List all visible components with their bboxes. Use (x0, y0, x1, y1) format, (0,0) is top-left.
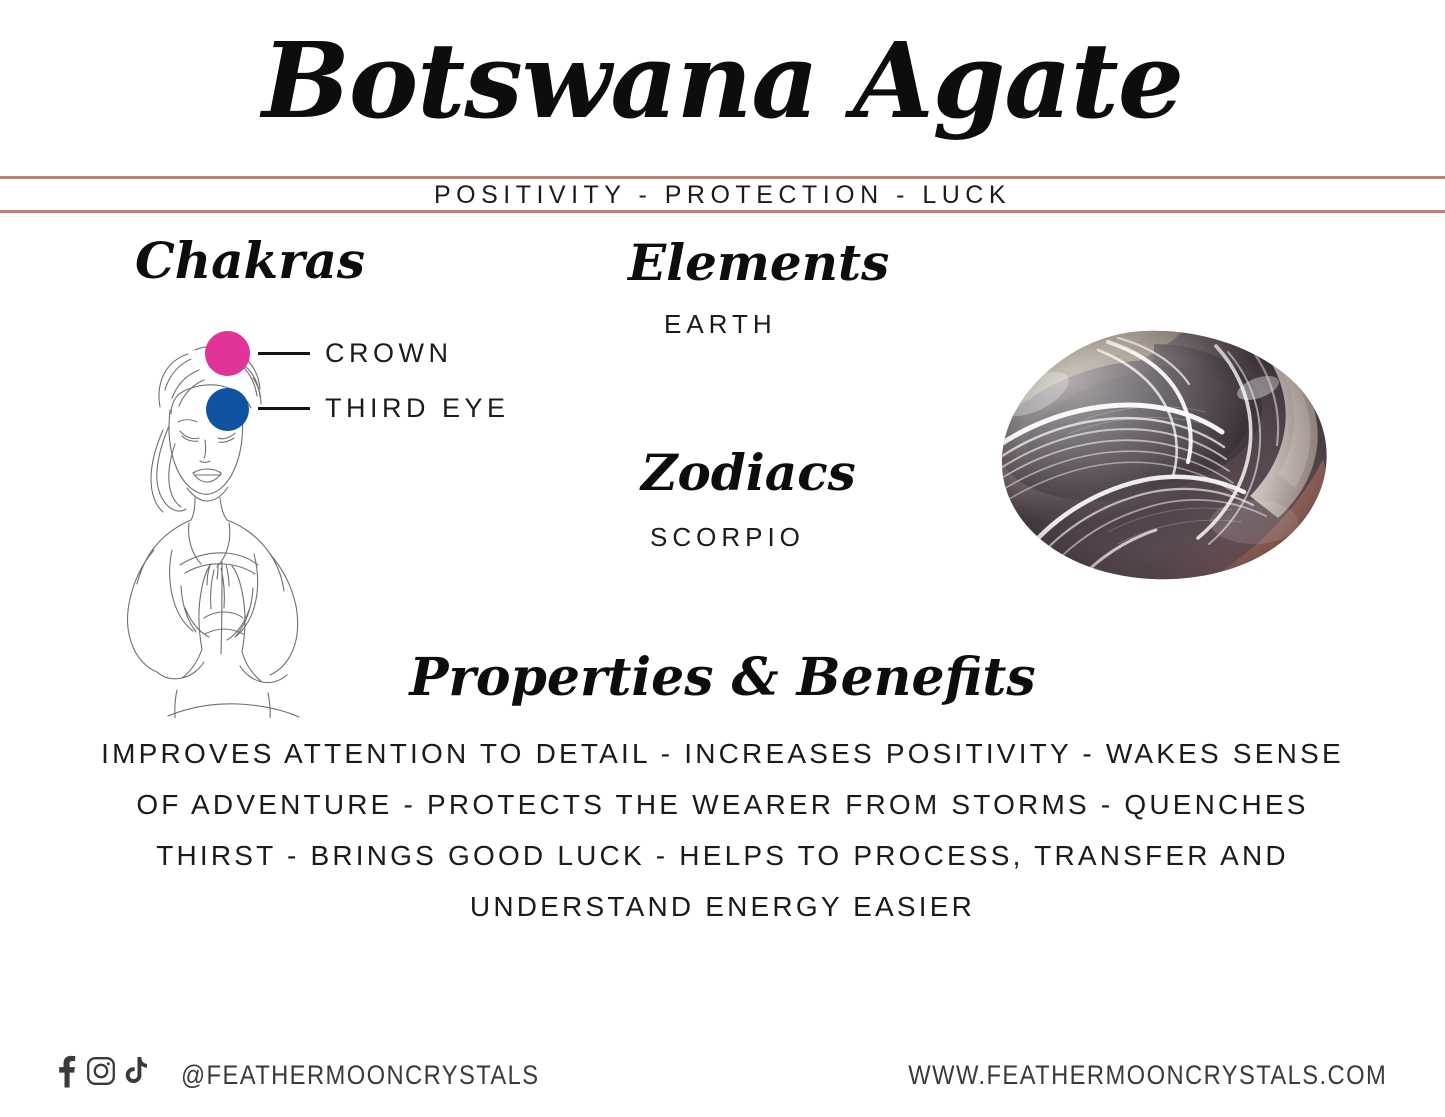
crown-chakra-dot (205, 331, 250, 376)
properties-body-text: IMPROVES ATTENTION TO DETAIL - INCREASES… (55, 728, 1390, 932)
chakra-label-crown: CROWN (325, 338, 452, 369)
zodiacs-value: SCORPIO (650, 522, 805, 553)
chakra-label-third-eye: THIRD EYE (325, 393, 510, 424)
properties-line: THIRST - BRINGS GOOD LUCK - HELPS TO PRO… (55, 830, 1390, 881)
third-eye-leader-line (258, 407, 310, 410)
elements-value: EARTH (664, 309, 777, 340)
crown-leader-line (258, 352, 310, 355)
divider-line-bottom (0, 210, 1445, 213)
properties-line: OF ADVENTURE - PROTECTS THE WEARER FROM … (55, 779, 1390, 830)
third-eye-chakra-dot (206, 388, 249, 431)
page-title: Botswana Agate (0, 18, 1445, 145)
instagram-icon[interactable] (86, 1056, 116, 1086)
properties-line: IMPROVES ATTENTION TO DETAIL - INCREASES… (55, 728, 1390, 779)
social-handle[interactable]: @FEATHERMOONCRYSTALS (181, 1060, 540, 1091)
elements-heading: Elements (628, 238, 889, 288)
crystal-info-card: Botswana Agate POSITIVITY - PROTECTION -… (0, 0, 1445, 1117)
tiktok-icon[interactable] (125, 1056, 150, 1086)
website-url[interactable]: WWW.FEATHERMOONCRYSTALS.COM (908, 1060, 1387, 1091)
footer: @FEATHERMOONCRYSTALS WWW.FEATHERMOONCRYS… (0, 1052, 1445, 1106)
facebook-icon[interactable] (55, 1054, 77, 1088)
properties-line: UNDERSTAND ENERGY EASIER (55, 881, 1390, 932)
social-icons-row (55, 1054, 150, 1088)
zodiacs-heading: Zodiacs (641, 448, 856, 498)
botswana-agate-palm-stone-image (958, 326, 1332, 608)
subtitle-keywords: POSITIVITY - PROTECTION - LUCK (0, 180, 1445, 211)
meditating-woman-lotus-pose-icon (48, 318, 398, 718)
chakras-heading: Chakras (135, 236, 365, 286)
divider-line-top (0, 176, 1445, 179)
